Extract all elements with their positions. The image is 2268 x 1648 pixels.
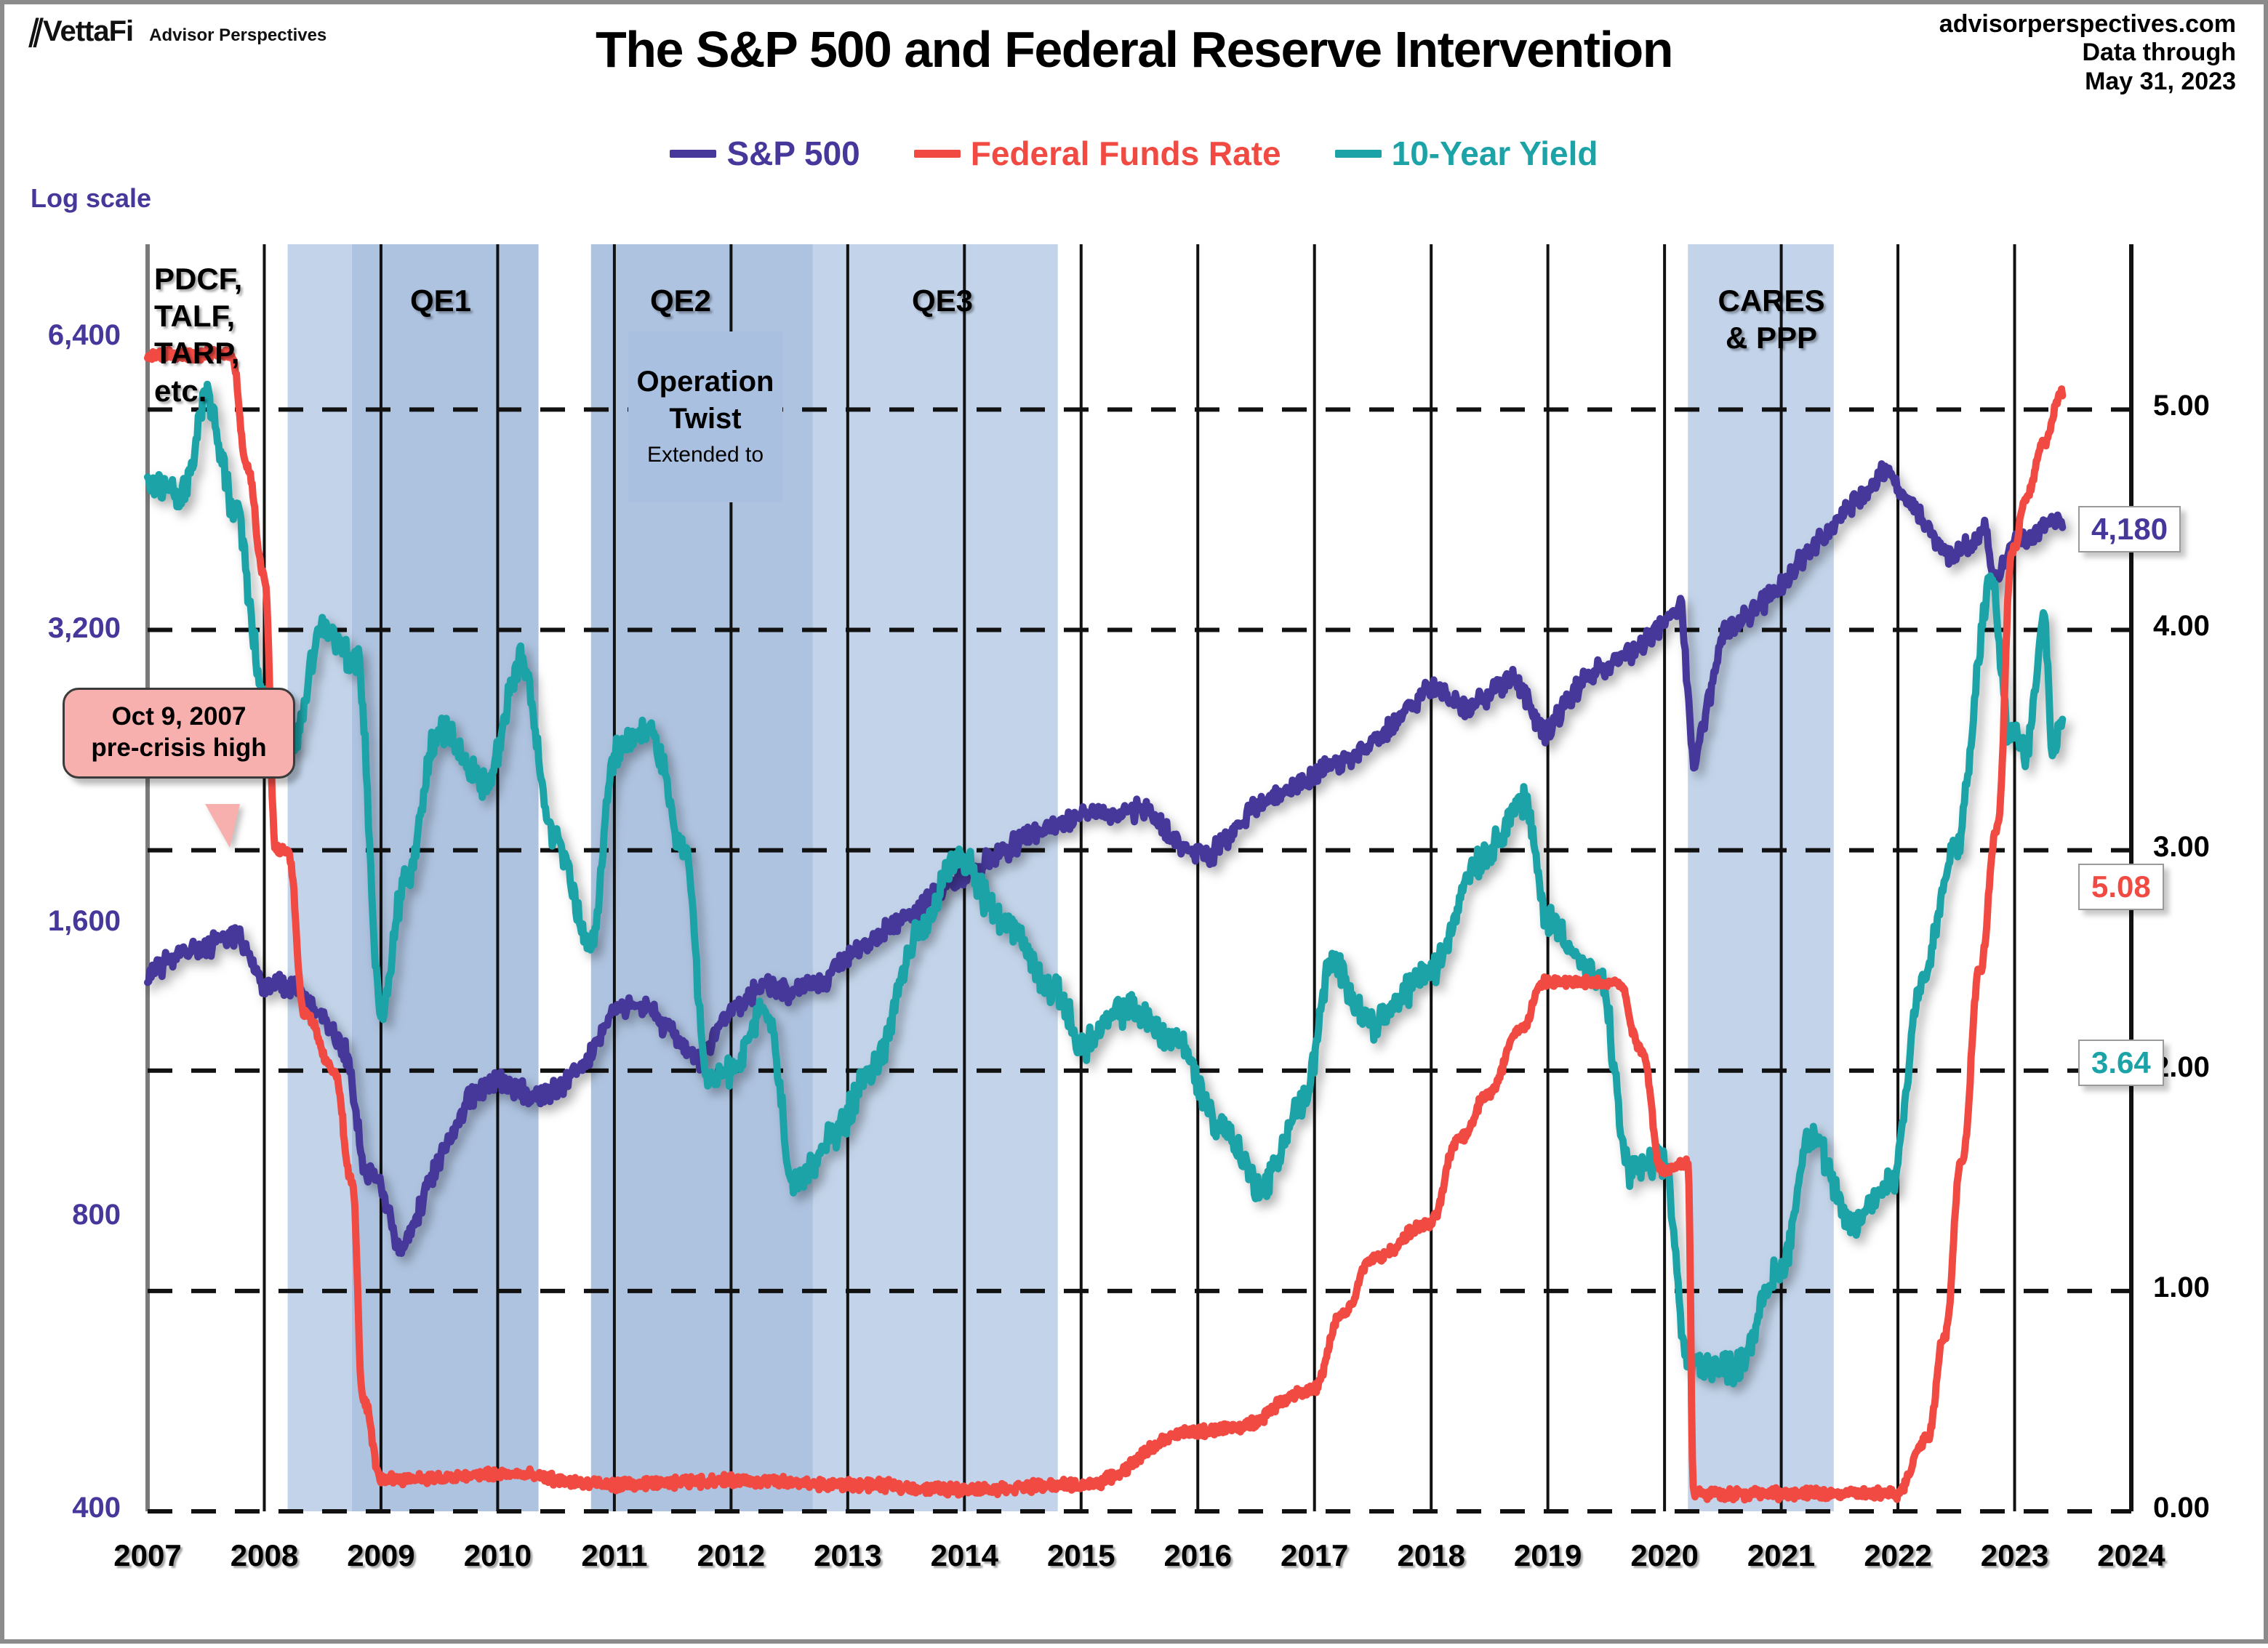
x-tick-2018: 2018 bbox=[1373, 1538, 1489, 1573]
chart-frame: ∥VettaFi Advisor Perspectives The S&P 50… bbox=[0, 0, 2268, 1644]
x-tick-2008: 2008 bbox=[206, 1538, 322, 1573]
fedfunds-value-flag: 5.08 bbox=[2078, 864, 2164, 910]
callout-bubble: Oct 9, 2007 pre-crisis high bbox=[63, 688, 295, 779]
twist-line1: Operation bbox=[634, 363, 777, 401]
band-label-qe1: QE1 bbox=[368, 282, 513, 319]
band-label-cares-ppp: CARES & PPP bbox=[1680, 282, 1862, 356]
x-tick-2014: 2014 bbox=[906, 1538, 1022, 1573]
y-tick-right-5.00: 5.00 bbox=[2153, 390, 2268, 422]
y-tick-left-400: 400 bbox=[12, 1492, 121, 1524]
y-tick-right-0.00: 0.00 bbox=[2153, 1492, 2268, 1524]
y-tick-left-6400: 6,400 bbox=[12, 319, 121, 352]
x-tick-2016: 2016 bbox=[1139, 1538, 1256, 1573]
y-tick-right-3.00: 3.00 bbox=[2153, 831, 2268, 864]
x-tick-2023: 2023 bbox=[1957, 1538, 2073, 1573]
tenyear-value-flag: 3.64 bbox=[2078, 1040, 2164, 1086]
twist-subline: Extended to bbox=[634, 442, 777, 469]
x-tick-2021: 2021 bbox=[1723, 1538, 1840, 1573]
y-tick-left-800: 800 bbox=[12, 1199, 121, 1231]
x-tick-2011: 2011 bbox=[556, 1538, 673, 1573]
y-tick-left-1600: 1,600 bbox=[12, 905, 121, 938]
callout-line2: pre-crisis high bbox=[72, 733, 286, 764]
chart-plot bbox=[4, 4, 2268, 1648]
callout-line1: Oct 9, 2007 bbox=[72, 702, 286, 733]
sp500-value-flag: 4,180 bbox=[2078, 506, 2181, 552]
x-tick-2007: 2007 bbox=[89, 1538, 206, 1573]
x-tick-2020: 2020 bbox=[1606, 1538, 1723, 1573]
twist-line2: Twist bbox=[634, 401, 777, 438]
y-tick-right-1.00: 1.00 bbox=[2153, 1271, 2268, 1304]
x-tick-2010: 2010 bbox=[439, 1538, 556, 1573]
x-tick-2015: 2015 bbox=[1023, 1538, 1139, 1573]
x-tick-2009: 2009 bbox=[323, 1538, 439, 1573]
x-tick-2013: 2013 bbox=[790, 1538, 906, 1573]
x-tick-2017: 2017 bbox=[1257, 1538, 1373, 1573]
x-tick-2012: 2012 bbox=[673, 1538, 789, 1573]
callout-tail bbox=[205, 804, 240, 848]
y-tick-right-2.00: 2.00 bbox=[2153, 1051, 2268, 1084]
x-tick-2022: 2022 bbox=[1840, 1538, 1956, 1573]
x-tick-2024: 2024 bbox=[2073, 1538, 2189, 1573]
y-tick-right-4.00: 4.00 bbox=[2153, 610, 2268, 643]
band-label-qe3: QE3 bbox=[870, 282, 1015, 319]
precrisis-high-callout: Oct 9, 2007 pre-crisis high bbox=[63, 688, 295, 779]
program-band-pdcf-talf-tarp-etc bbox=[288, 244, 352, 1511]
band-label-qe2: QE2 bbox=[608, 282, 753, 319]
program-band-qe3 bbox=[813, 244, 1058, 1511]
y-tick-left-3200: 3,200 bbox=[12, 612, 121, 645]
operation-twist-box: Operation Twist Extended to bbox=[628, 331, 782, 502]
x-tick-2019: 2019 bbox=[1490, 1538, 1606, 1573]
band-label-pdcf: PDCF, TALF, TARP, etc. bbox=[154, 260, 263, 409]
